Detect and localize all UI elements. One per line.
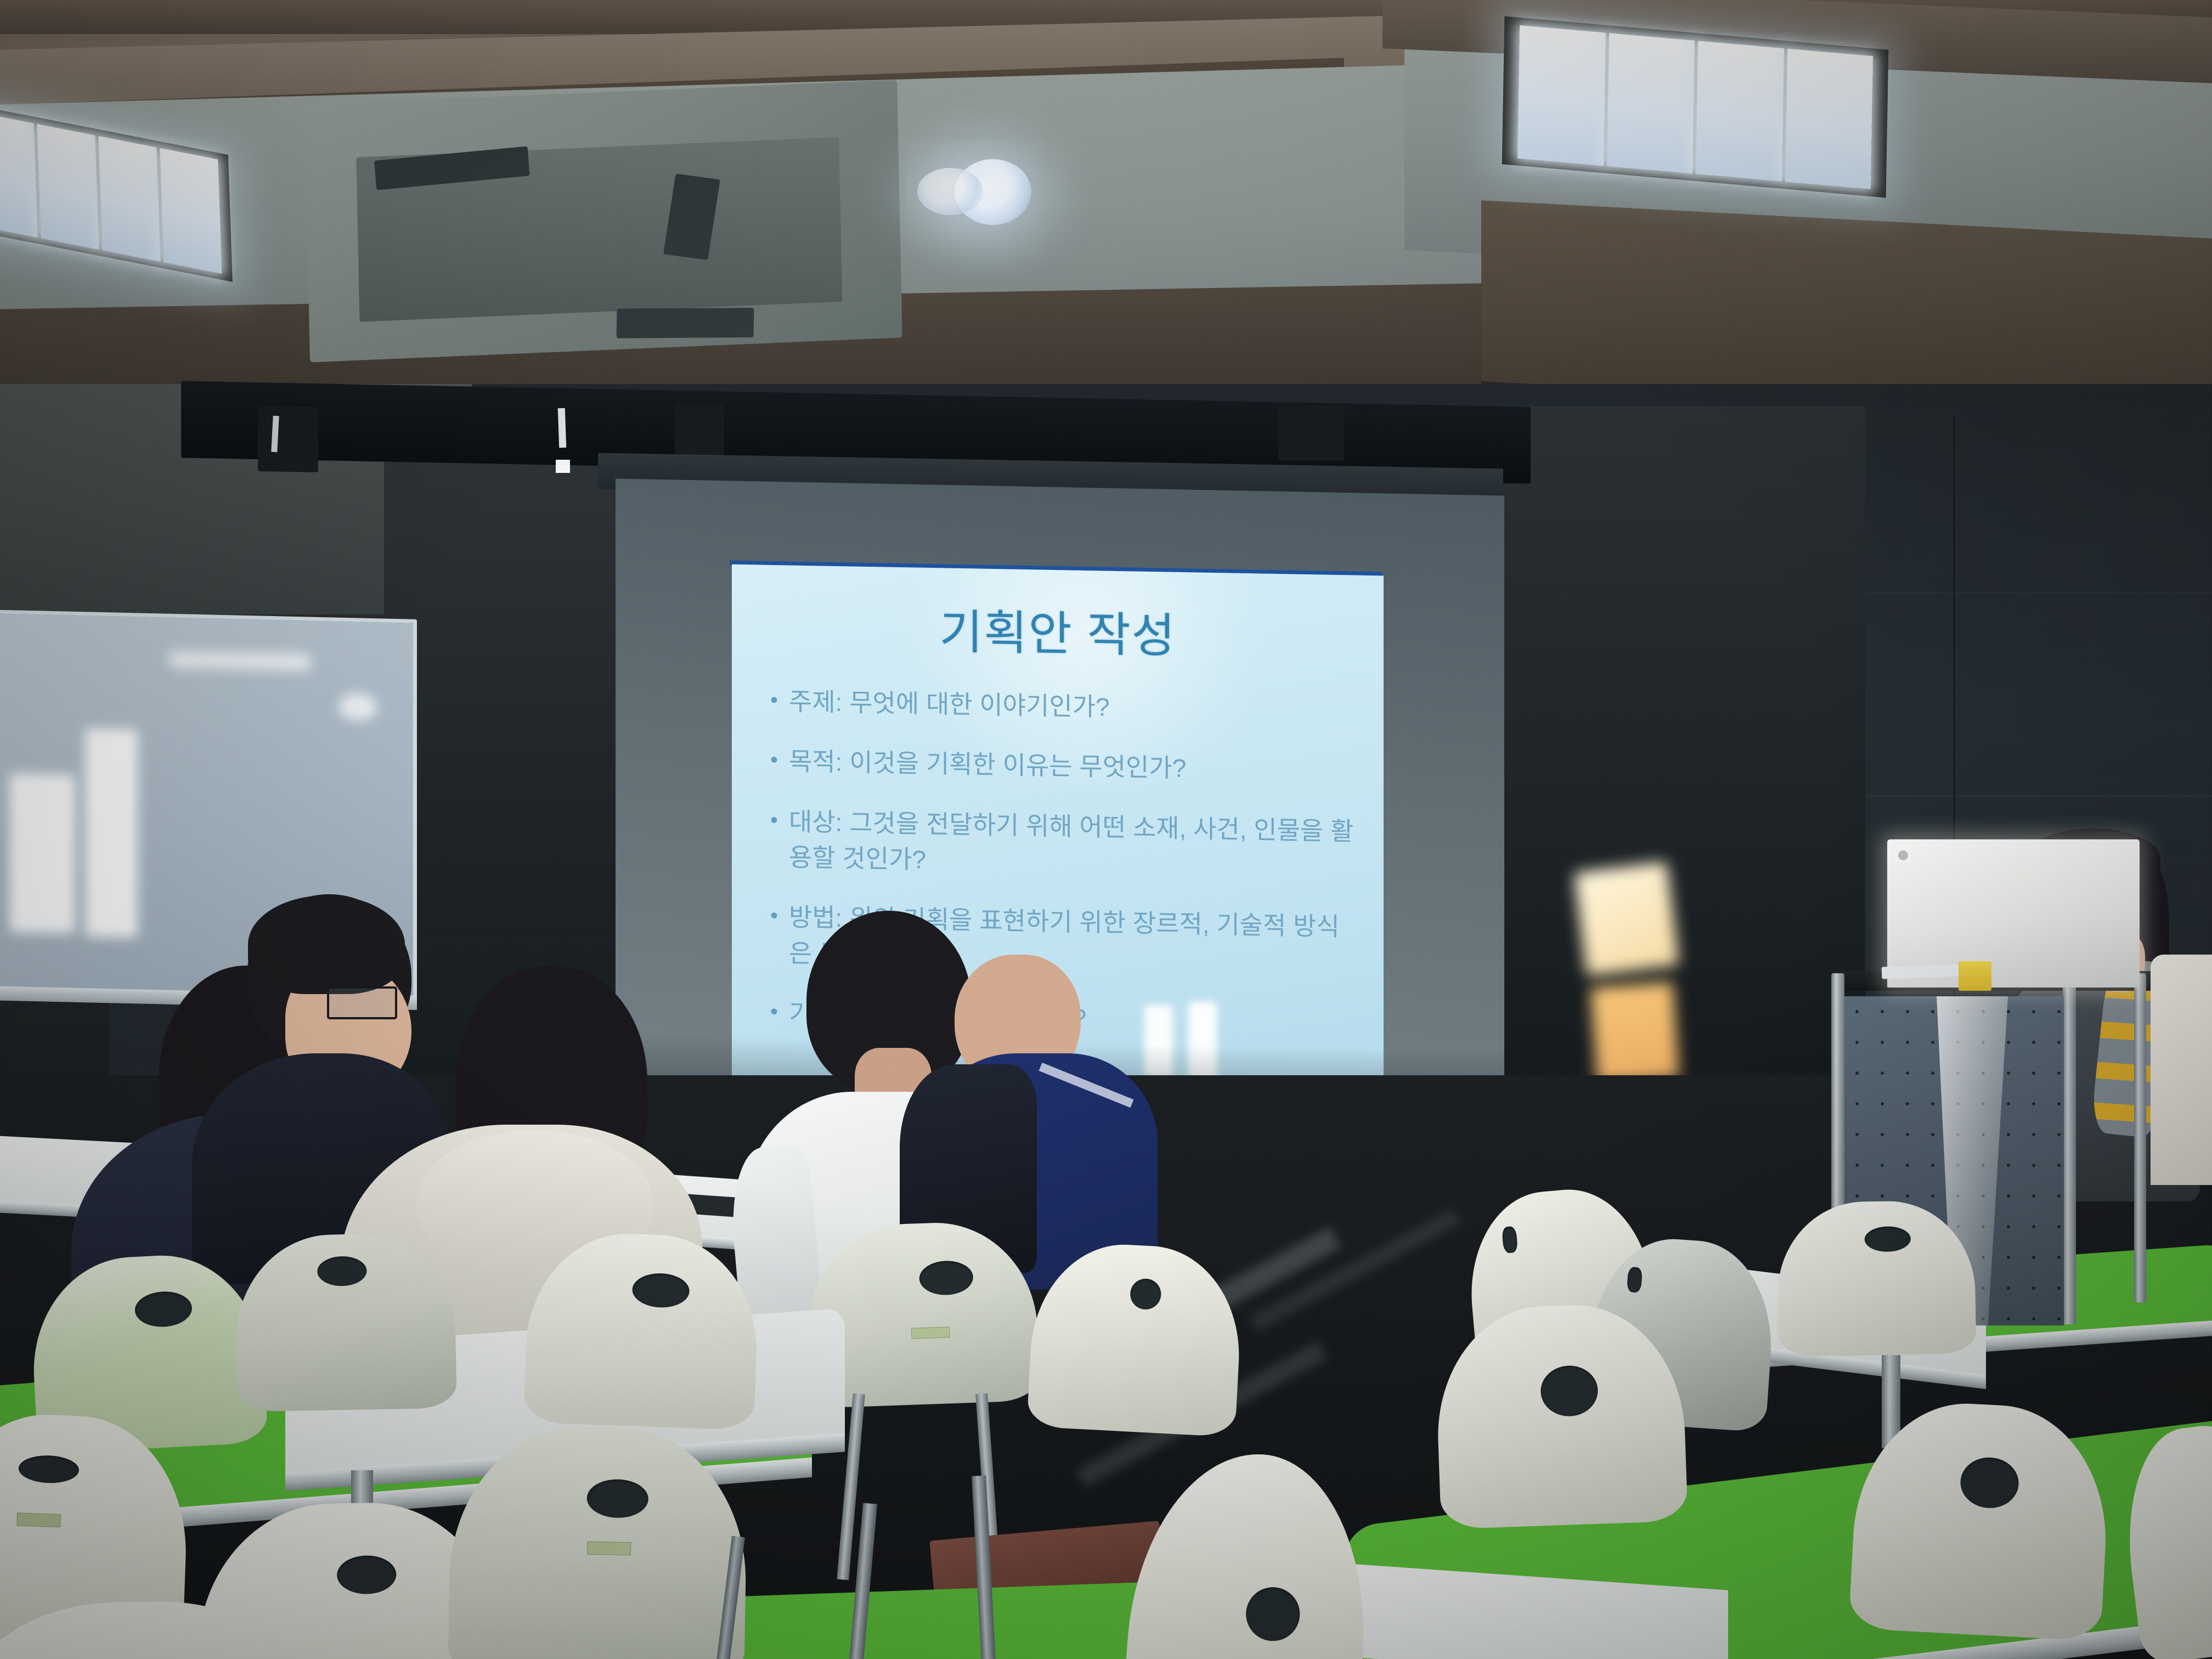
chair-fg-center-3[interactable] [1120, 1446, 1376, 1659]
slide-title: 기획안 작성 [732, 590, 1384, 670]
tube [1696, 41, 1784, 181]
lectern-frame-far-right [2134, 973, 2146, 1302]
sunlight-patch-lower [1590, 982, 1679, 1084]
whiteboard-reflection-top [168, 651, 311, 672]
chair-back [0, 1599, 309, 1659]
ac-vent-bottom [617, 308, 754, 338]
chair-fg-bottom-left[interactable] [0, 1599, 309, 1659]
chair-back [523, 1231, 760, 1430]
rail-highlight-c [556, 460, 570, 473]
side-panel-right [2151, 955, 2212, 1185]
chair-fg-right-2[interactable] [1848, 1398, 2112, 1641]
lectern-frame-right [2063, 973, 2076, 1324]
tube [0, 111, 38, 237]
chair-label [911, 1327, 950, 1339]
slide-bullet-3: • 대상: 그것을 전달하기 위해 어떤 소재, 사건, 인물을 활용할 것인가… [770, 803, 1362, 885]
chair-label [16, 1513, 61, 1527]
chair-back [1776, 1200, 1977, 1357]
whiteboard-reflection-a [9, 773, 75, 934]
whiteboard-reflection-b [85, 728, 138, 938]
chair-fg-left-2[interactable] [234, 1233, 457, 1412]
chair-label [587, 1542, 631, 1555]
tube [160, 148, 222, 273]
chair-right-mid[interactable] [1026, 1240, 1244, 1437]
chair-fg-center-1[interactable] [523, 1231, 760, 1430]
chair-back [1026, 1240, 1244, 1437]
ceiling-mount-bracket-left [258, 405, 318, 472]
tube [98, 136, 160, 261]
chair-fg-center-2[interactable] [448, 1424, 748, 1659]
sunlight-patch-upper [1574, 861, 1679, 976]
troffer-right-tubes [1517, 25, 1873, 189]
ceiling-mount-bracket-right [1278, 406, 1344, 461]
tube [37, 123, 99, 249]
slide-bullet-2: • 목적: 이것을 기획한 이유는 무엇인가? [770, 743, 1362, 789]
chair-back [1434, 1301, 1688, 1529]
bullet-marker: • [770, 684, 789, 717]
chair-back-right-3[interactable] [1776, 1200, 1977, 1357]
chair-fg-right-1[interactable] [1434, 1301, 1688, 1529]
bullet-marker: • [770, 803, 789, 837]
bullet-text: 목적: 이것을 기획한 이유는 무엇인가? [789, 744, 1362, 790]
classroom-photograph: 기획안 작성 • 주제: 무엇에 대한 이야기인가? • 목적: 이것을 기획한… [0, 0, 2212, 1659]
yellow-cup [1959, 961, 1991, 991]
chair-back [1120, 1446, 1376, 1659]
laptop-logo [1898, 850, 1908, 860]
bullet-text: 대상: 그것을 전달하기 위해 어떤 소재, 사건, 인물을 활용할 것인가? [789, 804, 1362, 885]
tube [1517, 25, 1606, 166]
tube [1785, 48, 1873, 189]
chair-back [1848, 1398, 2112, 1641]
tube [1606, 33, 1695, 173]
ac-cassette-unit [304, 80, 902, 363]
downlight-secondary [917, 168, 983, 215]
whiteboard-reflection-corner [338, 693, 377, 721]
rail-highlight-b [558, 408, 567, 448]
bullet-marker: • [770, 743, 789, 777]
